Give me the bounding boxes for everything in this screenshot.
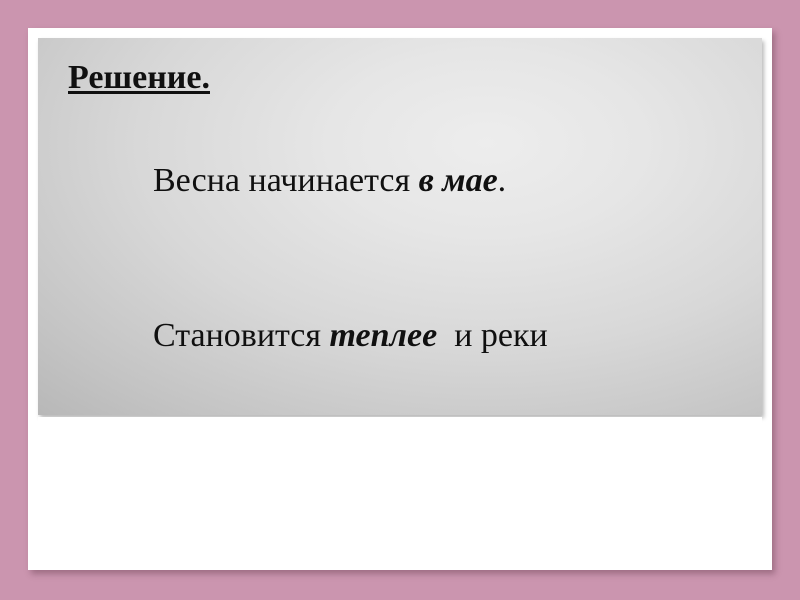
text-line-1: Весна начинается в мае.	[68, 104, 742, 259]
line-1-segment-1: Весна начинается	[153, 162, 419, 199]
line-2-segment-3: и реки	[437, 317, 548, 354]
slide-stage: Решение. Весна начинается в мае. Станови…	[0, 0, 800, 600]
solution-heading: Решение.	[68, 52, 742, 104]
slide-sheet: Решение. Весна начинается в мае. Станови…	[28, 28, 772, 570]
sheet-blank-area	[38, 417, 762, 560]
text-line-2: Становится теплее и реки	[68, 259, 742, 414]
text-line-3: тают. Первыми прилетают	[68, 414, 742, 415]
content-panel: Решение. Весна начинается в мае. Станови…	[38, 38, 762, 415]
line-1-segment-3: .	[498, 162, 507, 199]
line-1-segment-2: в мае	[419, 162, 498, 199]
line-2-segment-2: теплее	[330, 317, 438, 354]
slide-text-block: Решение. Весна начинается в мае. Станови…	[68, 52, 742, 415]
line-2-segment-1: Становится	[153, 317, 330, 354]
